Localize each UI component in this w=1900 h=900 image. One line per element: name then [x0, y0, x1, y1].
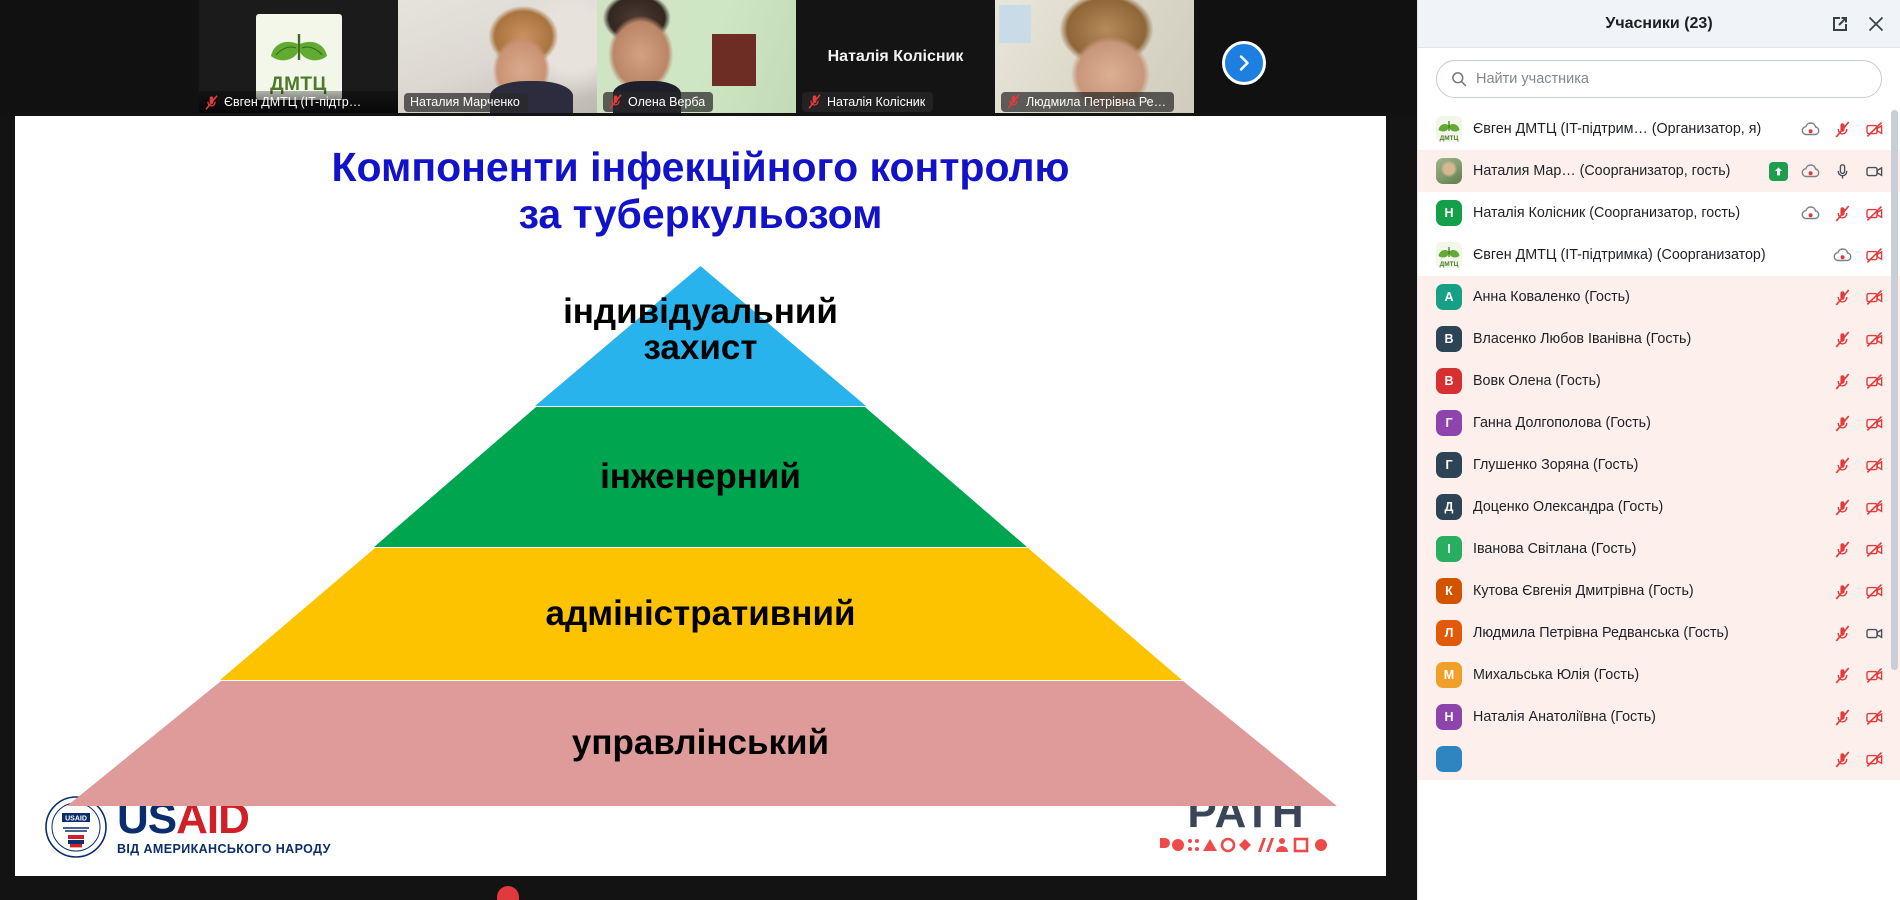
record-cloud-icon[interactable] — [1801, 121, 1820, 138]
path-glyph-row-icon — [1158, 837, 1334, 854]
camera-off-icon[interactable] — [1865, 121, 1884, 138]
participant-row[interactable]: Н Наталія Колісник (Соорганизатор, гость… — [1418, 192, 1900, 234]
popout-icon[interactable] — [1830, 14, 1850, 34]
thumbnail-3-namebar: Олена Верба — [597, 91, 796, 113]
avatar-initial: М — [1444, 668, 1454, 682]
avatar — [1436, 158, 1462, 184]
participant-name: Людмила Петрівна Редванська (Гость) — [1473, 625, 1822, 641]
avatar-initial: К — [1445, 584, 1453, 598]
participants-panel-actions — [1830, 0, 1886, 48]
record-cloud-icon[interactable] — [1801, 205, 1820, 222]
mic-off-icon[interactable] — [1833, 373, 1852, 390]
avatar: Д — [1436, 494, 1462, 520]
search-box[interactable] — [1436, 60, 1882, 98]
zoom-meeting-window: ДМТЦ Євген ДМТЦ (IT-підтр… Наталия — [0, 0, 1900, 900]
avatar: ДМТЦ — [1436, 242, 1462, 268]
mic-off-icon[interactable] — [1833, 205, 1852, 222]
thumbnail-4-big-name: Наталія Колісник — [822, 48, 970, 66]
participant-status-icons — [1833, 247, 1884, 264]
thumbnail-4-name: Наталія Колісник — [827, 95, 925, 109]
participant-row[interactable]: А Анна Коваленко (Гость) — [1418, 276, 1900, 318]
meeting-stage: ДМТЦ Євген ДМТЦ (IT-підтр… Наталия — [0, 0, 1417, 900]
participant-name: Кутова Євгенія Дмитрівна (Гость) — [1473, 583, 1822, 599]
avatar: Г — [1436, 410, 1462, 436]
participant-name: Доценко Олександра (Гость) — [1473, 499, 1822, 515]
avatar: Л — [1436, 620, 1462, 646]
pyramid-tier-3-label: адміністративний — [546, 596, 856, 632]
thumbnail-5-name: Людмила Петрівна Ре… — [1026, 95, 1166, 109]
mic-off-icon — [808, 94, 821, 109]
avatar-initial: А — [1444, 290, 1453, 304]
chevron-right-icon — [1234, 53, 1254, 73]
scrollbar-thumb[interactable] — [1891, 110, 1898, 670]
participant-status-icons — [1833, 499, 1884, 516]
thumbnail-4-namebar: Наталія Колісник — [796, 91, 995, 113]
participants-scrollbar[interactable] — [1891, 108, 1898, 900]
participant-row[interactable]: Н Наталія Анатоліївна (Гость) — [1418, 696, 1900, 738]
camera-off-icon[interactable] — [1865, 331, 1884, 348]
video-thumbnail-strip: ДМТЦ Євген ДМТЦ (IT-підтр… Наталия — [0, 0, 1417, 113]
participants-title: Учасники (23) — [1605, 15, 1712, 33]
mic-off-icon — [1007, 94, 1020, 109]
participant-row[interactable]: ДМТЦ Євген ДМТЦ (IT-підтрим… (Организато… — [1418, 108, 1900, 150]
avatar-initial: Л — [1445, 626, 1454, 640]
camera-off-icon[interactable] — [1865, 457, 1884, 474]
participant-status-icons — [1833, 751, 1884, 768]
participant-row[interactable]: В Вовк Олена (Гость) — [1418, 360, 1900, 402]
record-cloud-icon[interactable] — [1801, 163, 1820, 180]
participant-status-icons — [1833, 415, 1884, 432]
thumbnail-2-name: Наталия Марченко — [410, 95, 520, 109]
mic-off-icon[interactable] — [1833, 751, 1852, 768]
video-thumbnail-4[interactable]: Наталія Колісник Наталія Колісник — [796, 0, 995, 113]
participant-row[interactable]: Г Глушенко Зоряна (Гость) — [1418, 444, 1900, 486]
participant-row[interactable]: ДМТЦ Євген ДМТЦ (IT-підтримка) (Сооргани… — [1418, 234, 1900, 276]
avatar: Н — [1436, 200, 1462, 226]
participant-name: Анна Коваленко (Гость) — [1473, 289, 1822, 305]
avatar: В — [1436, 368, 1462, 394]
camera-off-icon[interactable] — [1865, 205, 1884, 222]
mic-off-icon[interactable] — [1833, 289, 1852, 306]
mic-off-icon[interactable] — [1833, 457, 1852, 474]
camera-off-icon[interactable] — [1865, 499, 1884, 516]
video-thumbnail-2[interactable]: Наталия Марченко — [398, 0, 597, 113]
thumbnail-1-name: Євген ДМТЦ (IT-підтр… — [224, 95, 361, 109]
participant-status-icons — [1801, 121, 1884, 138]
participant-name: Євген ДМТЦ (IT-підтримка) (Соорганизатор… — [1473, 247, 1822, 263]
participant-row[interactable]: Наталия Мар… (Соорганизатор, гость) — [1418, 150, 1900, 192]
avatar-initial: В — [1444, 374, 1453, 388]
avatar-initial: Г — [1445, 416, 1452, 430]
pyramid-tier-2-label: інженерний — [600, 459, 801, 495]
avatar-initial: Д — [1445, 500, 1454, 514]
share-up-arrow-icon — [1773, 166, 1784, 177]
pyramid-diagram: індивідуальний захист інженерний адмініс… — [15, 266, 1386, 796]
camera-on-icon[interactable] — [1865, 625, 1884, 642]
avatar — [1436, 746, 1462, 772]
camera-off-icon[interactable] — [1865, 247, 1884, 264]
participants-search-wrap — [1418, 48, 1900, 108]
avatar: А — [1436, 284, 1462, 310]
search-input[interactable] — [1476, 71, 1867, 87]
participant-row[interactable]: К Кутова Євгенія Дмитрівна (Гость) — [1418, 570, 1900, 612]
camera-off-icon[interactable] — [1865, 289, 1884, 306]
participant-status-icons — [1833, 289, 1884, 306]
thumbnail-3-name: Олена Верба — [628, 95, 705, 109]
pyramid-tier-2: інженерний — [15, 407, 1386, 547]
screen-share-badge[interactable] — [1769, 162, 1788, 181]
participant-name: Власенко Любов Іванівна (Гость) — [1473, 331, 1822, 347]
participant-status-icons — [1801, 205, 1884, 222]
participant-row[interactable]: В Власенко Любов Іванівна (Гость) — [1418, 318, 1900, 360]
thumbnail-2-namebar: Наталия Марченко — [398, 91, 597, 113]
pyramid-tier-3: адміністративний — [15, 548, 1386, 680]
mic-off-icon[interactable] — [1833, 625, 1852, 642]
participant-row[interactable] — [1418, 738, 1900, 780]
mic-off-icon[interactable] — [1833, 331, 1852, 348]
avatar-initial: В — [1444, 332, 1453, 346]
camera-off-icon[interactable] — [1865, 415, 1884, 432]
avatar-initial: Г — [1445, 458, 1452, 472]
usaid-tagline: ВІД АМЕРИКАНСЬКОГО НАРОДУ — [117, 842, 331, 856]
avatar-initial: І — [1447, 542, 1450, 556]
participant-row[interactable]: І Іванова Світлана (Гость) — [1418, 528, 1900, 570]
participant-status-icons — [1833, 457, 1884, 474]
avatar: К — [1436, 578, 1462, 604]
pyramid-tier-4-label: управлінський — [572, 725, 829, 761]
mic-off-icon[interactable] — [1833, 541, 1852, 558]
avatar-initial: Н — [1444, 710, 1453, 724]
avatar: М — [1436, 662, 1462, 688]
participant-name: Михальська Юлія (Гость) — [1473, 667, 1822, 683]
camera-off-icon[interactable] — [1865, 751, 1884, 768]
participant-name: Євген ДМТЦ (IT-підтрим… (Организатор, я) — [1473, 121, 1790, 137]
mic-on-icon[interactable] — [1833, 163, 1852, 180]
participant-name: Наталия Мар… (Соорганизатор, гость) — [1473, 163, 1758, 179]
mic-off-icon[interactable] — [1833, 709, 1852, 726]
participant-status-icons — [1833, 583, 1884, 600]
thumbnail-5-namebar: Людмила Петрівна Ре… — [995, 91, 1194, 113]
participant-status-icons — [1833, 541, 1884, 558]
record-cloud-icon[interactable] — [1833, 247, 1852, 264]
participant-status-icons — [1833, 709, 1884, 726]
pyramid-tier-1: індивідуальний захист — [15, 266, 1386, 406]
camera-off-icon[interactable] — [1865, 709, 1884, 726]
participant-row[interactable]: Д Доценко Олександра (Гость) — [1418, 486, 1900, 528]
participant-status-icons — [1833, 331, 1884, 348]
participant-row[interactable]: М Михальська Юлія (Гость) — [1418, 654, 1900, 696]
participant-status-icons — [1833, 667, 1884, 684]
recording-indicator — [497, 886, 519, 900]
camera-on-icon[interactable] — [1865, 163, 1884, 180]
shared-slide: Компоненти інфекційного контролю за тубе… — [15, 116, 1386, 876]
pyramid-tier-1-label: індивідуальний захист — [563, 294, 838, 367]
participants-list[interactable]: ДМТЦ Євген ДМТЦ (IT-підтрим… (Организато… — [1418, 108, 1900, 900]
video-thumbnail-1[interactable]: ДМТЦ Євген ДМТЦ (IT-підтр… — [199, 0, 398, 113]
participants-panel: Учасники (23) — [1417, 0, 1900, 900]
camera-off-icon[interactable] — [1865, 583, 1884, 600]
search-icon — [1451, 71, 1467, 87]
participants-panel-header: Учасники (23) — [1418, 0, 1900, 48]
svg-text:USAID: USAID — [65, 815, 87, 822]
next-page-button[interactable] — [1222, 41, 1266, 85]
avatar: В — [1436, 326, 1462, 352]
mic-off-icon[interactable] — [1833, 121, 1852, 138]
camera-off-icon[interactable] — [1865, 667, 1884, 684]
avatar: Н — [1436, 704, 1462, 730]
mic-off-icon[interactable] — [1833, 499, 1852, 516]
avatar: І — [1436, 536, 1462, 562]
participant-row[interactable]: Г Ганна Долгополова (Гость) — [1418, 402, 1900, 444]
participant-name: Глушенко Зоряна (Гость) — [1473, 457, 1822, 473]
video-thumbnail-5[interactable]: Людмила Петрівна Ре… — [995, 0, 1194, 113]
mic-off-icon — [205, 95, 218, 110]
dmtc-logo-text: ДМТЦ — [1440, 261, 1459, 268]
dmtc-logo-card: ДМТЦ — [256, 14, 342, 100]
thumbnail-1-namebar: Євген ДМТЦ (IT-підтр… — [199, 91, 398, 113]
slide-title: Компоненти інфекційного контролю за тубе… — [15, 144, 1386, 237]
participant-status-icons — [1833, 625, 1884, 642]
mic-off-icon[interactable] — [1833, 583, 1852, 600]
filmstrip-left-pad — [0, 0, 199, 113]
participant-status-icons — [1769, 162, 1884, 181]
participant-name: Ганна Долгополова (Гость) — [1473, 415, 1822, 431]
avatar-initial: Н — [1444, 206, 1453, 220]
video-thumbnail-3[interactable]: Олена Верба — [597, 0, 796, 113]
usaid-wordmark: USAID ВІД АМЕРИКАНСЬКОГО НАРОДУ — [117, 798, 331, 855]
participant-status-icons — [1833, 373, 1884, 390]
close-icon[interactable] — [1866, 14, 1886, 34]
camera-off-icon[interactable] — [1865, 373, 1884, 390]
camera-off-icon[interactable] — [1865, 541, 1884, 558]
participant-row[interactable]: Л Людмила Петрівна Редванська (Гость) — [1418, 612, 1900, 654]
mic-off-icon — [609, 94, 622, 109]
avatar: Г — [1436, 452, 1462, 478]
participant-name: Вовк Олена (Гость) — [1473, 373, 1822, 389]
participant-name: Наталія Анатоліївна (Гость) — [1473, 709, 1822, 725]
dmtc-logo-text: ДМТЦ — [1440, 135, 1459, 142]
avatar: ДМТЦ — [1436, 116, 1462, 142]
mic-off-icon[interactable] — [1833, 415, 1852, 432]
participant-name: Наталія Колісник (Соорганизатор, гость) — [1473, 205, 1790, 221]
pyramid-tier-4: управлінський — [15, 681, 1386, 806]
participant-name: Іванова Світлана (Гость) — [1473, 541, 1822, 557]
mic-off-icon[interactable] — [1833, 667, 1852, 684]
